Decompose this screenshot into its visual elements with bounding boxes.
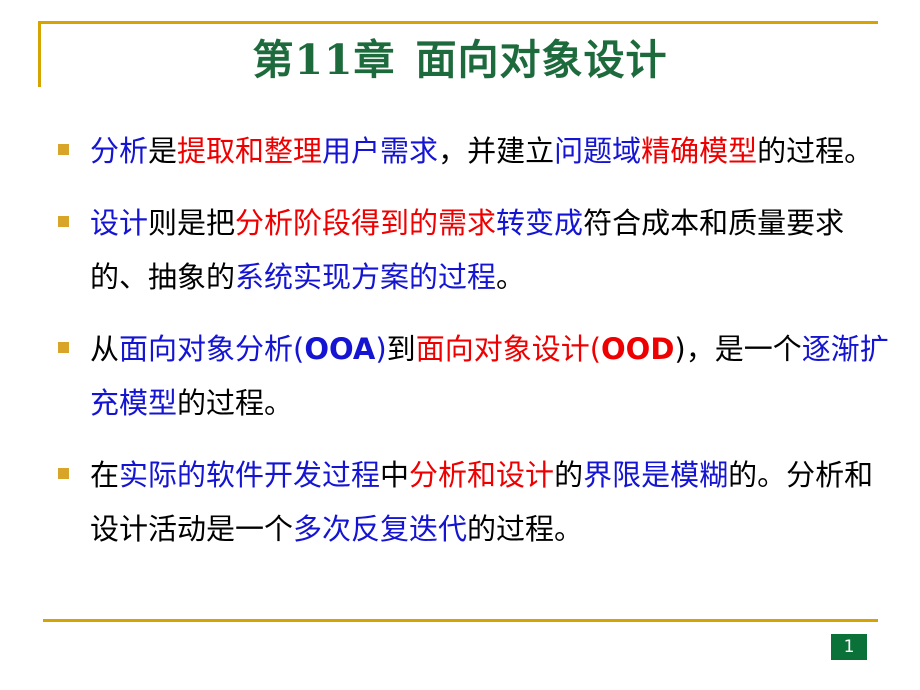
title-chapter-prefix: 第11章 <box>252 36 395 84</box>
text-run: 系统实现方案的过程 <box>235 260 496 294</box>
square-bullet-icon <box>58 468 69 479</box>
text-run: 分析和设计 <box>409 458 554 492</box>
text-run: 精确模型 <box>641 134 757 168</box>
top-gold-rule <box>38 21 878 24</box>
list-item: 设计则是把分析阶段得到的需求转变成符合成本和质量要求的、抽象的系统实现方案的过程… <box>52 196 892 304</box>
text-run: 是 <box>148 134 177 168</box>
text-run: ( <box>590 332 601 366</box>
slide-canvas: 第11章面向对象设计 分析是提取和整理用户需求，并建立问题域精确模型的过程。 设… <box>0 0 920 690</box>
text-run: ，并建立 <box>438 134 554 168</box>
text-run: 面向对象分析 <box>119 332 293 366</box>
bullet-list: 分析是提取和整理用户需求，并建立问题域精确模型的过程。 设计则是把分析阶段得到的… <box>52 124 892 574</box>
text-run: 多次反复迭代 <box>293 512 467 546</box>
square-bullet-icon <box>58 216 69 227</box>
list-item: 在实际的软件开发过程中分析和设计的界限是模糊的。分析和设计活动是一个多次反复迭代… <box>52 448 892 556</box>
text-run: 的 <box>554 458 583 492</box>
square-bullet-icon <box>58 342 69 353</box>
text-run: ，是一个 <box>686 332 802 366</box>
text-run: 。 <box>496 260 525 294</box>
text-run: ( <box>293 332 304 366</box>
bottom-gold-rule <box>43 619 878 622</box>
text-run: ) <box>674 332 685 366</box>
text-run: 中 <box>380 458 409 492</box>
text-run: 的过程。 <box>757 134 873 168</box>
list-item: 分析是提取和整理用户需求，并建立问题域精确模型的过程。 <box>52 124 892 178</box>
text-run: 的过程。 <box>177 386 293 420</box>
text-run: 分析阶段得到的需求 <box>235 206 496 240</box>
bullet-text: 分析是提取和整理用户需求，并建立问题域精确模型的过程。 <box>90 124 892 178</box>
list-item: 从面向对象分析(OOA)到面向对象设计(OOD)，是一个逐渐扩充模型的过程。 <box>52 322 892 430</box>
text-run: 提取和整理 <box>177 134 322 168</box>
slide-title: 第11章面向对象设计 <box>0 33 920 87</box>
bullet-text: 在实际的软件开发过程中分析和设计的界限是模糊的。分析和设计活动是一个多次反复迭代… <box>90 448 892 556</box>
text-run: 转变成 <box>496 206 583 240</box>
text-run: OOA <box>304 332 375 366</box>
text-run: 界限是模糊 <box>583 458 728 492</box>
bullet-text: 从面向对象分析(OOA)到面向对象设计(OOD)，是一个逐渐扩充模型的过程。 <box>90 322 892 430</box>
text-run: 实际的软件开发过程 <box>119 458 380 492</box>
text-run: 在 <box>90 458 119 492</box>
text-run: OOD <box>601 332 674 366</box>
square-bullet-icon <box>58 144 69 155</box>
text-run: 则是把 <box>148 206 235 240</box>
text-run: ) <box>375 332 386 366</box>
text-run: 问题域 <box>554 134 641 168</box>
page-number-badge: 1 <box>831 634 867 660</box>
text-run: 设计 <box>90 206 148 240</box>
text-run: 从 <box>90 332 119 366</box>
text-run: 分析 <box>90 134 148 168</box>
bullet-text: 设计则是把分析阶段得到的需求转变成符合成本和质量要求的、抽象的系统实现方案的过程… <box>90 196 892 304</box>
text-run: 用户需求 <box>322 134 438 168</box>
text-run: 的过程。 <box>467 512 583 546</box>
text-run: 面向对象设计 <box>416 332 590 366</box>
text-run: 到 <box>387 332 416 366</box>
title-main-text: 面向对象设计 <box>416 36 668 84</box>
